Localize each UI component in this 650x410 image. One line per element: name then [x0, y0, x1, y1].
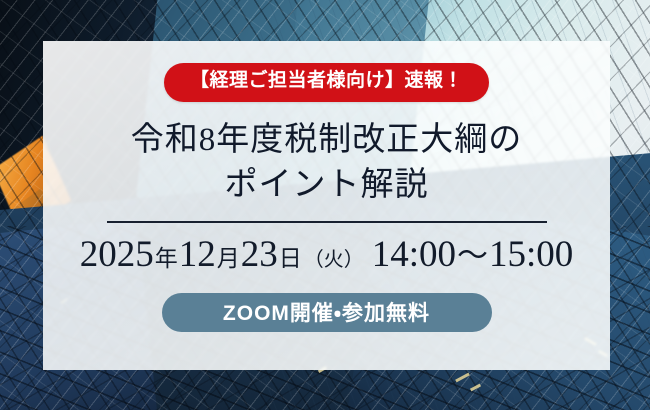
content-panel: 【経理ご担当者様向け】速報！ 令和8年度税制改正大綱の ポイント解説 2025 …: [43, 41, 610, 370]
event-datetime: 2025 年 12 月 23 日 （火） 14:00 〜 15:00: [80, 236, 574, 273]
datetime-start-time: 14:00: [372, 236, 456, 273]
datetime-day-of-week: （火）: [303, 250, 365, 270]
title-divider: [107, 221, 547, 223]
datetime-year-unit: 年: [154, 247, 179, 270]
datetime-year: 2025: [80, 236, 154, 273]
datetime-day: 23: [241, 236, 278, 273]
datetime-month-unit: 月: [216, 247, 241, 270]
datetime-range-mark: 〜: [456, 240, 489, 271]
datetime-day-unit: 日: [278, 247, 303, 270]
page-title: 令和8年度税制改正大綱の ポイント解説: [131, 118, 523, 209]
datetime-end-time: 15:00: [489, 236, 573, 273]
webinar-banner: 【経理ご担当者様向け】速報！ 令和8年度税制改正大綱の ポイント解説 2025 …: [0, 0, 650, 410]
zoom-free-participation-button[interactable]: ZOOM開催・参加無料: [162, 293, 492, 332]
announcement-badge: 【経理ご担当者様向け】速報！: [164, 63, 489, 102]
title-line-2: ポイント解説: [131, 163, 523, 209]
datetime-month: 12: [179, 236, 216, 273]
title-line-1: 令和8年度税制改正大綱の: [131, 122, 523, 158]
